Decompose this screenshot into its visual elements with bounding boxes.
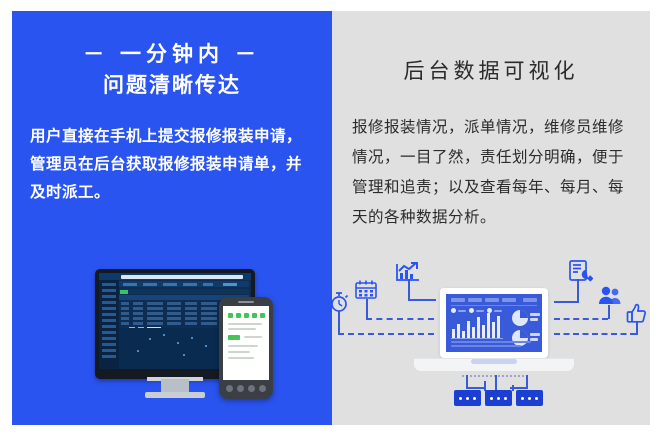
smartphone bbox=[219, 297, 273, 399]
left-panel-heading: － 一分钟内 － 问题清晰传达 bbox=[12, 11, 332, 101]
panel-left-feature: － 一分钟内 － 问题清晰传达 用户直接在手机上提交报修报装申请，管理员在后台获… bbox=[12, 11, 332, 425]
connector-dashed-left-lower bbox=[338, 333, 434, 335]
stopwatch-icon bbox=[332, 291, 350, 313]
right-panel-heading: 后台数据可视化 bbox=[332, 11, 650, 87]
connector-h-growth bbox=[408, 299, 436, 301]
connector-dashed-right-lower bbox=[554, 333, 636, 335]
laptop-trackpad-notch bbox=[471, 359, 517, 364]
left-panel-body-text: 用户直接在手机上提交报修报装申请，管理员在后台获取报修报装申请单，并及时派工。 bbox=[12, 101, 332, 207]
monitor-base bbox=[145, 392, 205, 398]
phone-screen bbox=[223, 306, 269, 380]
connector-dashed-right-upper bbox=[554, 318, 608, 320]
screenshot-root: － 一分钟内 － 问题清晰传达 用户直接在手机上提交报修报装申请，管理员在后台获… bbox=[0, 0, 663, 438]
phone-nav-bar bbox=[223, 383, 269, 394]
monitor-stand bbox=[161, 379, 189, 393]
connector-v-users bbox=[608, 305, 610, 319]
dashboard-sidebar bbox=[99, 280, 119, 369]
pie-chart bbox=[512, 310, 528, 326]
phone-speaker bbox=[238, 301, 254, 303]
browser-urlbar bbox=[121, 275, 243, 279]
server-box bbox=[516, 390, 543, 406]
panel-right-feature: 后台数据可视化 报修报装情况，派单情况，维修员维修情况，一目了然，责任划分明确，… bbox=[332, 11, 650, 425]
connector-dashed-left-upper bbox=[366, 318, 434, 320]
left-heading-line2: 问题清晰传达 bbox=[12, 70, 332, 101]
dashboard-toolbar bbox=[119, 281, 249, 287]
thumbs-up-icon bbox=[626, 303, 648, 325]
connector-h-clipboard bbox=[554, 301, 579, 303]
donut-chart bbox=[512, 330, 528, 346]
right-panel-body-text: 报修报装情况，派单情况，维修员维修情况，一目了然，责任划分明确，便于管理和追责；… bbox=[332, 87, 650, 233]
left-heading-line1: － 一分钟内 － bbox=[12, 39, 332, 70]
laptop-screen bbox=[440, 288, 548, 358]
laptop-dashboard bbox=[446, 294, 542, 352]
dashboard-tabrow bbox=[119, 289, 249, 294]
clipboard-wrench-icon bbox=[568, 259, 594, 283]
growth-chart-icon bbox=[395, 261, 421, 283]
connector-v-calendar bbox=[366, 299, 368, 320]
left-illustration bbox=[12, 259, 332, 425]
users-icon bbox=[598, 285, 622, 305]
server-box bbox=[454, 390, 481, 406]
connector-v-stopwatch bbox=[338, 311, 340, 335]
calendar-icon bbox=[354, 279, 378, 300]
dashboard-active-tab bbox=[120, 290, 128, 294]
server-box bbox=[485, 390, 512, 406]
right-illustration bbox=[332, 259, 650, 425]
